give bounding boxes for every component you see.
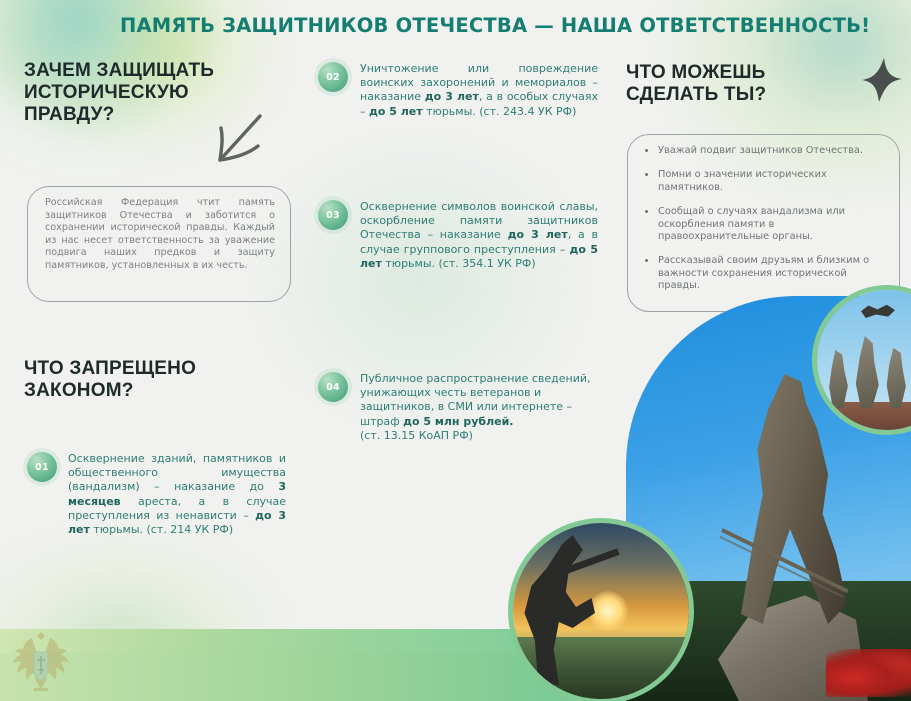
curved-arrow-down-left-icon: [196, 110, 276, 176]
law-item-number-badge: 02: [318, 62, 348, 92]
photo-red-flowers: [826, 649, 911, 697]
law-item-02: 02 Уничтожение или повреждение воинских …: [318, 62, 600, 119]
list-item: Уважай подвиг защитников Отечества.: [658, 144, 888, 157]
list-item: Помни о значении исторических памятников…: [658, 168, 888, 194]
bullet-list: Уважай подвиг защитников Отечества.Помни…: [644, 144, 888, 293]
law-item-number-badge: 01: [27, 452, 57, 482]
law-item-01: 01 Осквернение зданий, памятников и обще…: [27, 452, 292, 537]
infographic-canvas: ПАМЯТЬ ЗАЩИТНИКОВ ОТЕЧЕСТВА — НАША ОТВЕТ…: [0, 0, 911, 701]
motherland-calls-sunset-photo: [508, 518, 694, 701]
list-item: Рассказывай своим друзьям и близким о ва…: [658, 254, 888, 292]
section-heading-banned: ЧТО ЗАПРЕЩЕНО ЗАКОНОМ?: [24, 358, 274, 402]
law-item-text: Публичное распространение сведений, униж…: [360, 372, 598, 443]
section-heading-can-do: ЧТО МОЖЕШЬ СДЕЛАТЬ ТЫ?: [626, 62, 856, 106]
russian-prosecutor-double-headed-eagle-emblem: [6, 628, 76, 696]
law-item-number-badge: 03: [318, 200, 348, 230]
law-item-text: Осквернение зданий, памятников и обществ…: [68, 452, 286, 537]
why-body-text: Российская Федерация чтит память защитни…: [45, 197, 275, 273]
law-item-number-badge: 04: [318, 372, 348, 402]
four-point-star-icon: [862, 58, 902, 102]
law-item-04: 04 Публичное распространение сведений, у…: [318, 372, 600, 443]
soldiers-memorial-group-photo: [812, 285, 911, 435]
list-item: Сообщай о случаях вандализма или оскорбл…: [658, 205, 888, 243]
law-item-text: Уничтожение или повреждение воинских зах…: [360, 62, 598, 119]
can-do-bullet-list: Уважай подвиг защитников Отечества.Помни…: [644, 144, 888, 304]
law-item-text: Осквернение символов воинской славы, оск…: [360, 200, 598, 271]
page-title: ПАМЯТЬ ЗАЩИТНИКОВ ОТЕЧЕСТВА — НАША ОТВЕТ…: [120, 14, 850, 37]
law-item-03: 03 Осквернение символов воинской славы, …: [318, 200, 600, 271]
